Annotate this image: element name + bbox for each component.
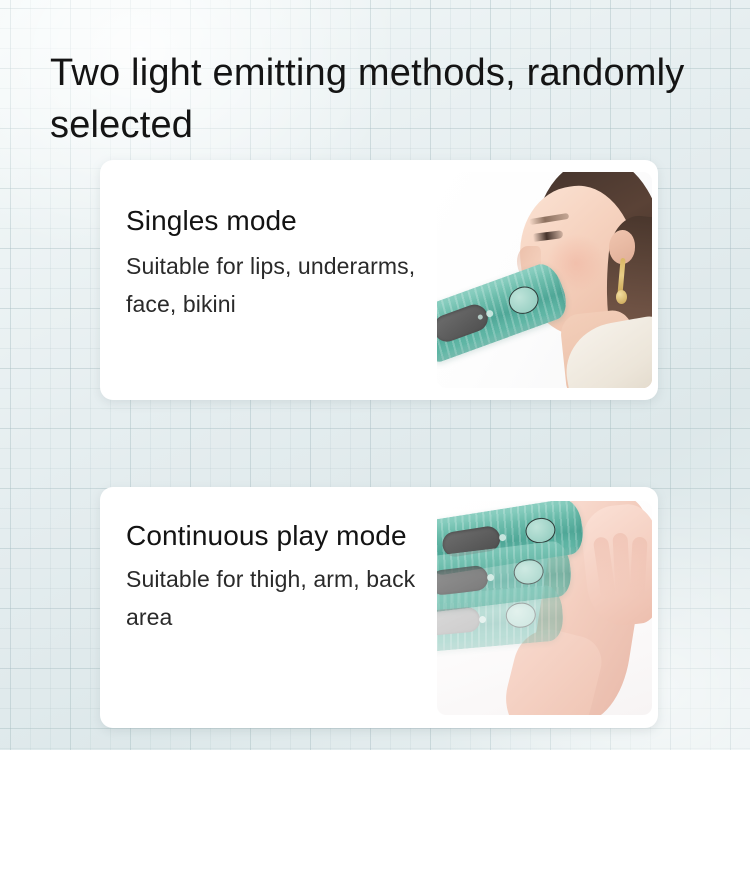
device-power-button bbox=[505, 283, 542, 318]
device-power-button bbox=[512, 557, 545, 586]
page-title: Two light emitting methods, randomly sel… bbox=[50, 47, 720, 151]
ipl-device-ghost bbox=[437, 584, 565, 654]
card-title: Continuous play mode bbox=[126, 517, 446, 554]
promo-poster: Two light emitting methods, randomly sel… bbox=[0, 0, 750, 750]
device-indicator-led bbox=[479, 615, 487, 623]
card-photo-singles bbox=[437, 172, 652, 388]
card-description: Suitable for thigh, arm, back area bbox=[126, 560, 446, 636]
device-flash-window bbox=[437, 301, 491, 345]
card-text-block: Singles mode Suitable for lips, underarm… bbox=[126, 160, 446, 400]
card-title: Singles mode bbox=[126, 202, 446, 239]
device-indicator-led bbox=[499, 533, 507, 541]
device-indicator-led bbox=[487, 573, 495, 581]
card-description: Suitable for lips, underarms, face, biki… bbox=[126, 247, 446, 323]
card-photo-continuous bbox=[437, 501, 652, 715]
earring-drop bbox=[616, 290, 627, 304]
card-text-block: Continuous play mode Suitable for thigh,… bbox=[126, 487, 446, 728]
mode-card-singles: Singles mode Suitable for lips, underarm… bbox=[100, 160, 658, 400]
device-flash-window bbox=[437, 606, 481, 637]
device-body bbox=[437, 584, 565, 654]
mode-card-continuous: Continuous play mode Suitable for thigh,… bbox=[100, 487, 658, 728]
ipl-device-motion-stack bbox=[437, 501, 652, 715]
device-power-button bbox=[505, 601, 537, 629]
device-indicator-led bbox=[485, 309, 494, 318]
